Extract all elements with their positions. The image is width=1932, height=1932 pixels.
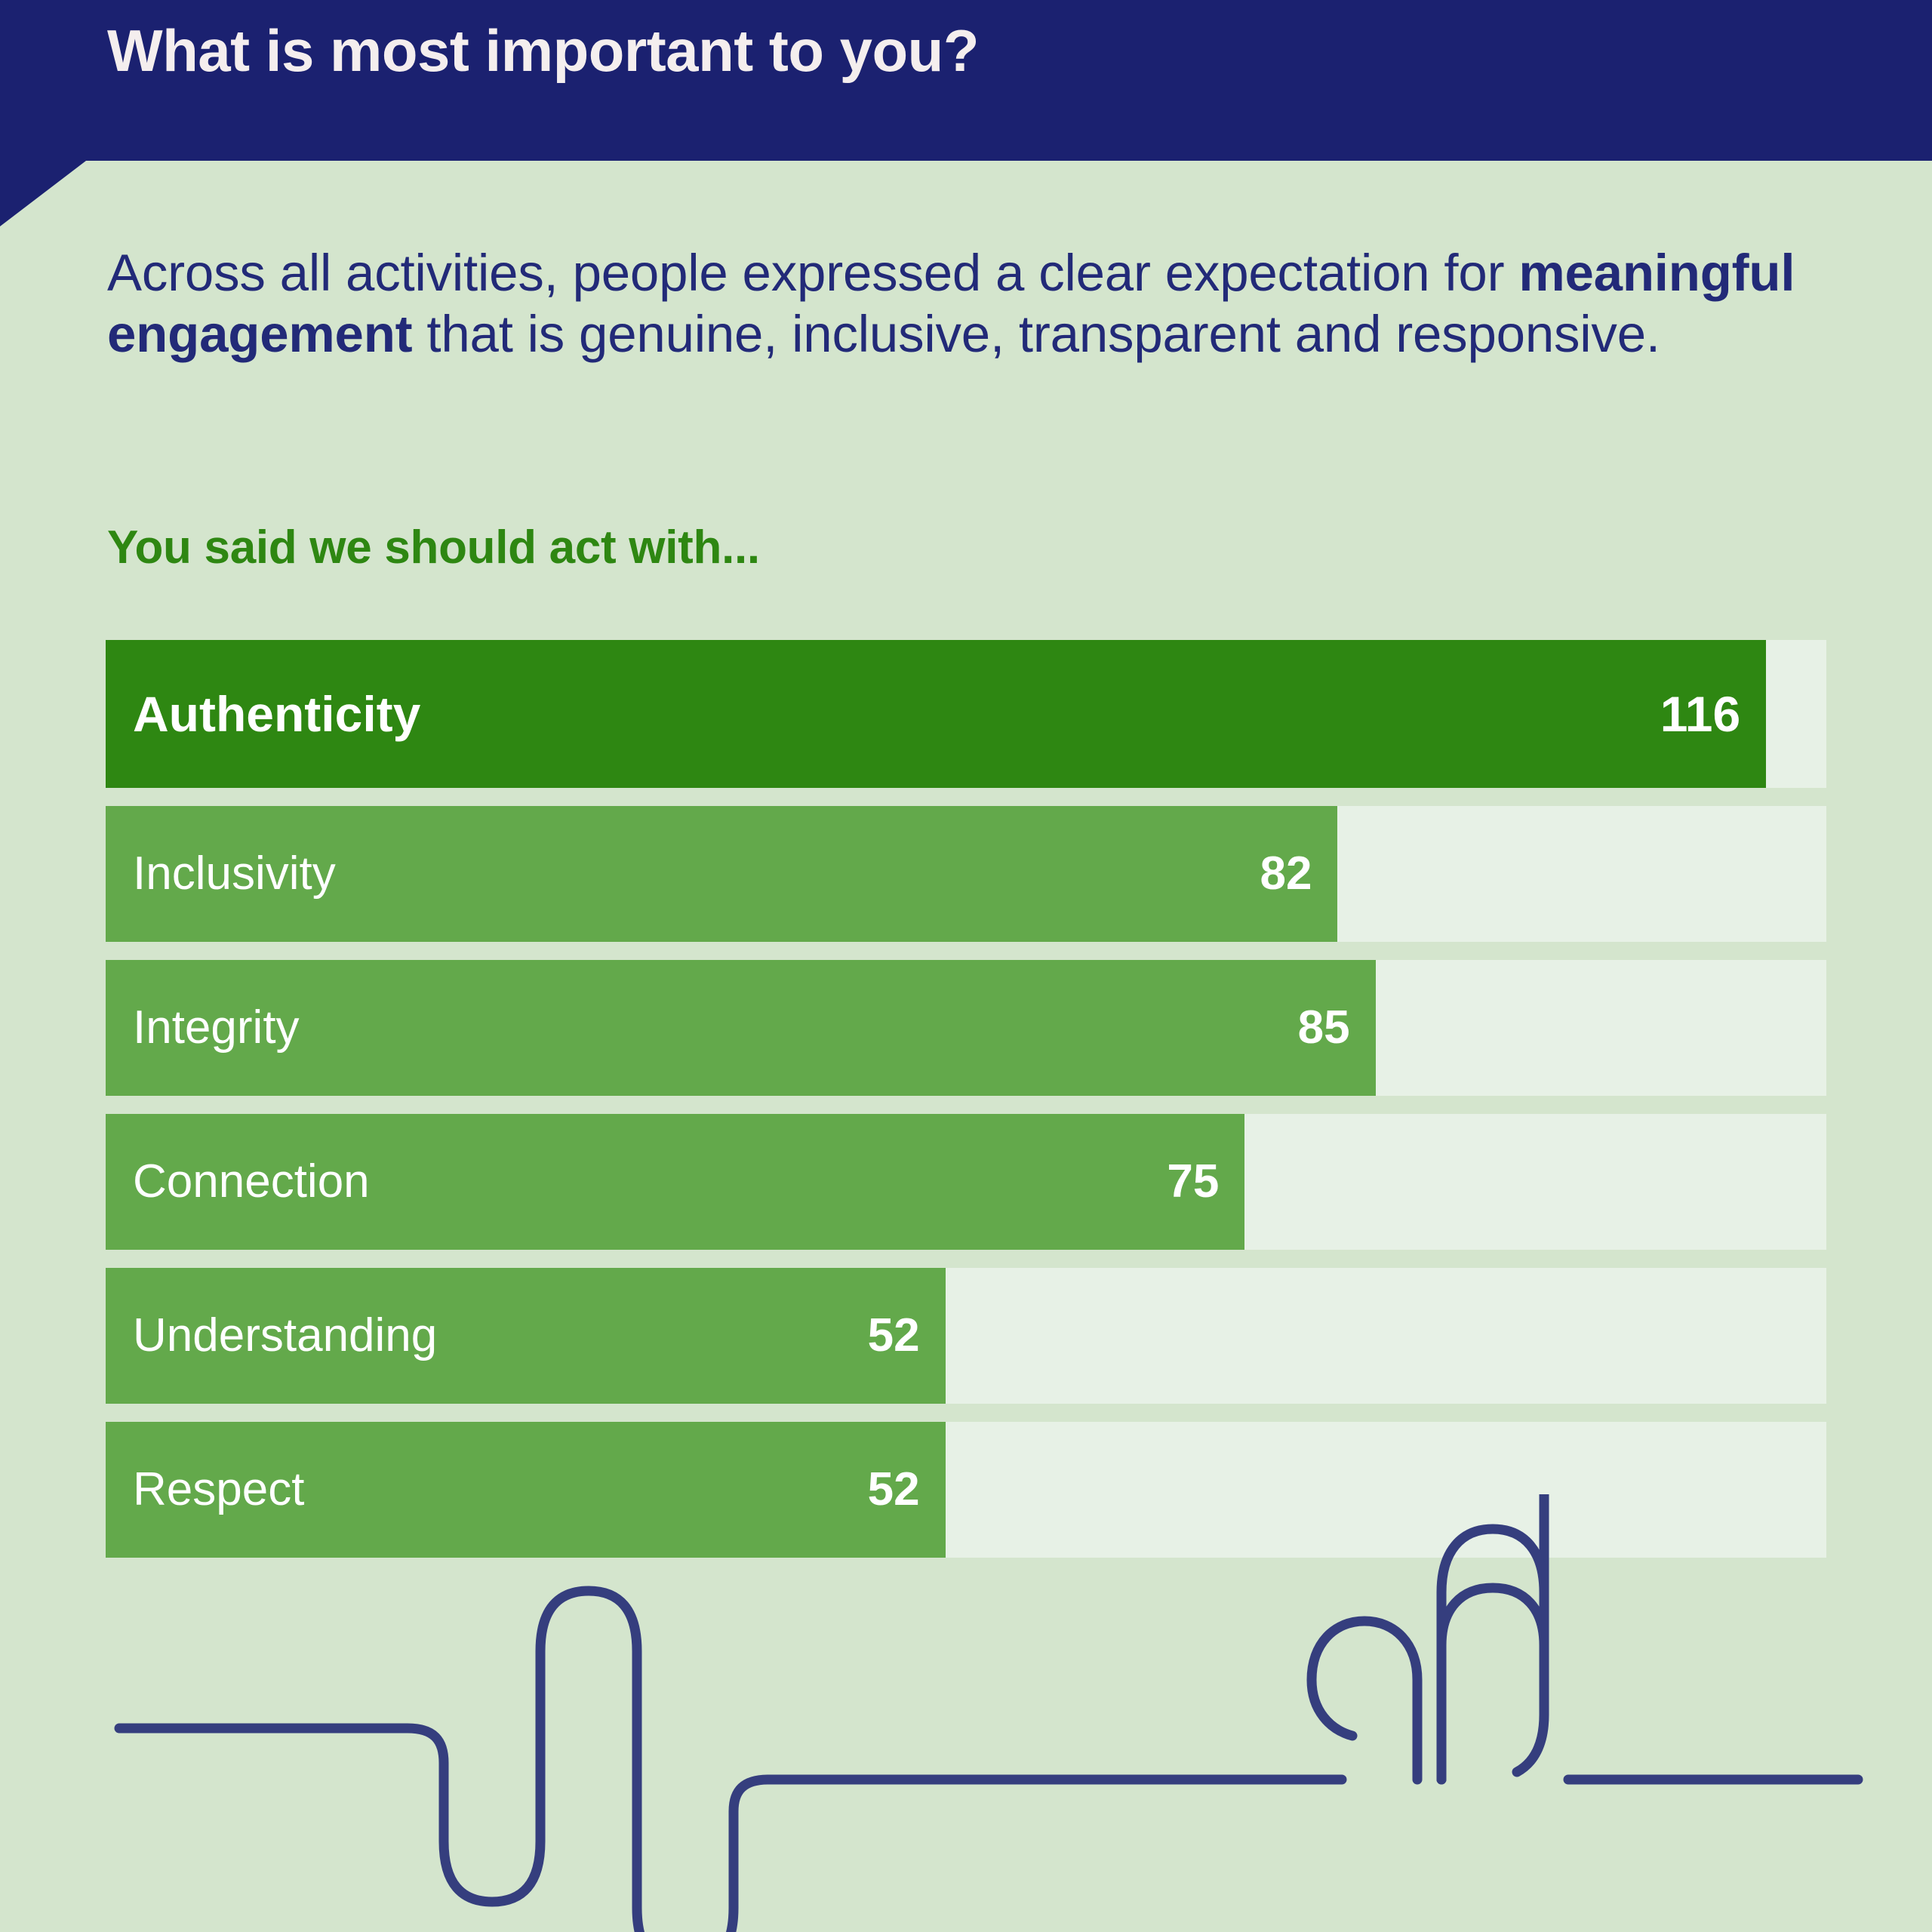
bar-row: Integrity 85 [106, 960, 1826, 1096]
bar-fill: Authenticity 116 [106, 640, 1766, 788]
page-title: What is most important to you? [107, 21, 1767, 80]
subheading: You said we should act with... [107, 521, 760, 574]
bar-fill: Inclusivity 82 [106, 806, 1337, 942]
intro-paragraph: Across all activities, people expressed … [107, 243, 1835, 365]
bar-label: Respect [133, 1466, 304, 1513]
squiggle-balloon-small [1312, 1621, 1417, 1780]
bar-row: Connection 75 [106, 1114, 1826, 1250]
bar-value: 85 [1298, 1004, 1350, 1051]
bar-row: Respect 52 [106, 1422, 1826, 1558]
bar-label: Integrity [133, 1004, 300, 1051]
bar-label: Connection [133, 1158, 370, 1205]
bar-value: 116 [1660, 689, 1740, 739]
bar-row: Understanding 52 [106, 1268, 1826, 1404]
bar-label: Understanding [133, 1312, 437, 1359]
bar-value: 82 [1260, 851, 1312, 897]
bar-label: Inclusivity [133, 851, 336, 897]
bar-value: 52 [868, 1466, 920, 1513]
bar-fill: Respect 52 [106, 1422, 946, 1558]
bar-label: Authenticity [133, 689, 420, 739]
bar-fill: Integrity 85 [106, 960, 1376, 1096]
intro-text-after: that is genuine, inclusive, transparent … [412, 305, 1660, 363]
bar-row: Inclusivity 82 [106, 806, 1826, 942]
bar-fill: Connection 75 [106, 1114, 1244, 1250]
bar-chart: Authenticity 116 Inclusivity 82 Integrit… [106, 640, 1826, 1576]
infographic-root: What is most important to you? Across al… [0, 0, 1932, 1932]
bar-fill: Understanding 52 [106, 1268, 946, 1404]
bar-value: 52 [868, 1312, 920, 1359]
bar-row: Authenticity 116 [106, 640, 1826, 788]
squiggle-path-left [119, 1591, 1342, 1932]
intro-text-before: Across all activities, people expressed … [107, 244, 1518, 302]
bar-value: 75 [1167, 1158, 1219, 1205]
